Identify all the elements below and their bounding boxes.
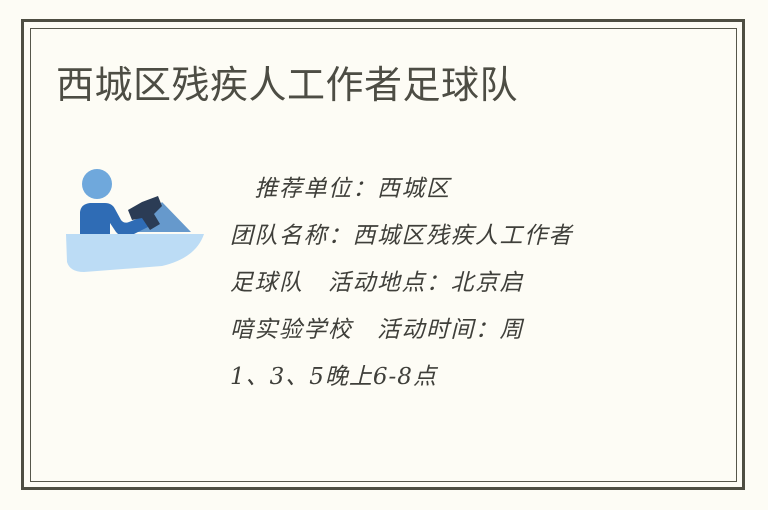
detail-line-5: 1、3、5晚上6-8点 <box>230 354 650 401</box>
detail-line-2: 团队名称：西城区残疾人工作者 <box>230 213 650 260</box>
page-title: 西城区残疾人工作者足球队 <box>56 62 518 110</box>
person-in-boat-icon <box>58 162 210 284</box>
person-in-boat-illustration <box>58 162 210 284</box>
detail-line-4: 喑实验学校 活动时间：周 <box>230 307 650 354</box>
poster-canvas: 西城区残疾人工作者足球队 推荐单位：西城区 团队名称：西城区残疾人工作者 足球队… <box>0 0 768 510</box>
activity-details-text: 推荐单位：西城区 团队名称：西城区残疾人工作者 足球队 活动地点：北京启 喑实验… <box>230 166 650 401</box>
detail-line-3: 足球队 活动地点：北京启 <box>230 260 650 307</box>
boat-hull-shape <box>66 234 204 272</box>
detail-line-1: 推荐单位：西城区 <box>230 166 650 213</box>
person-head-shape <box>82 169 112 199</box>
